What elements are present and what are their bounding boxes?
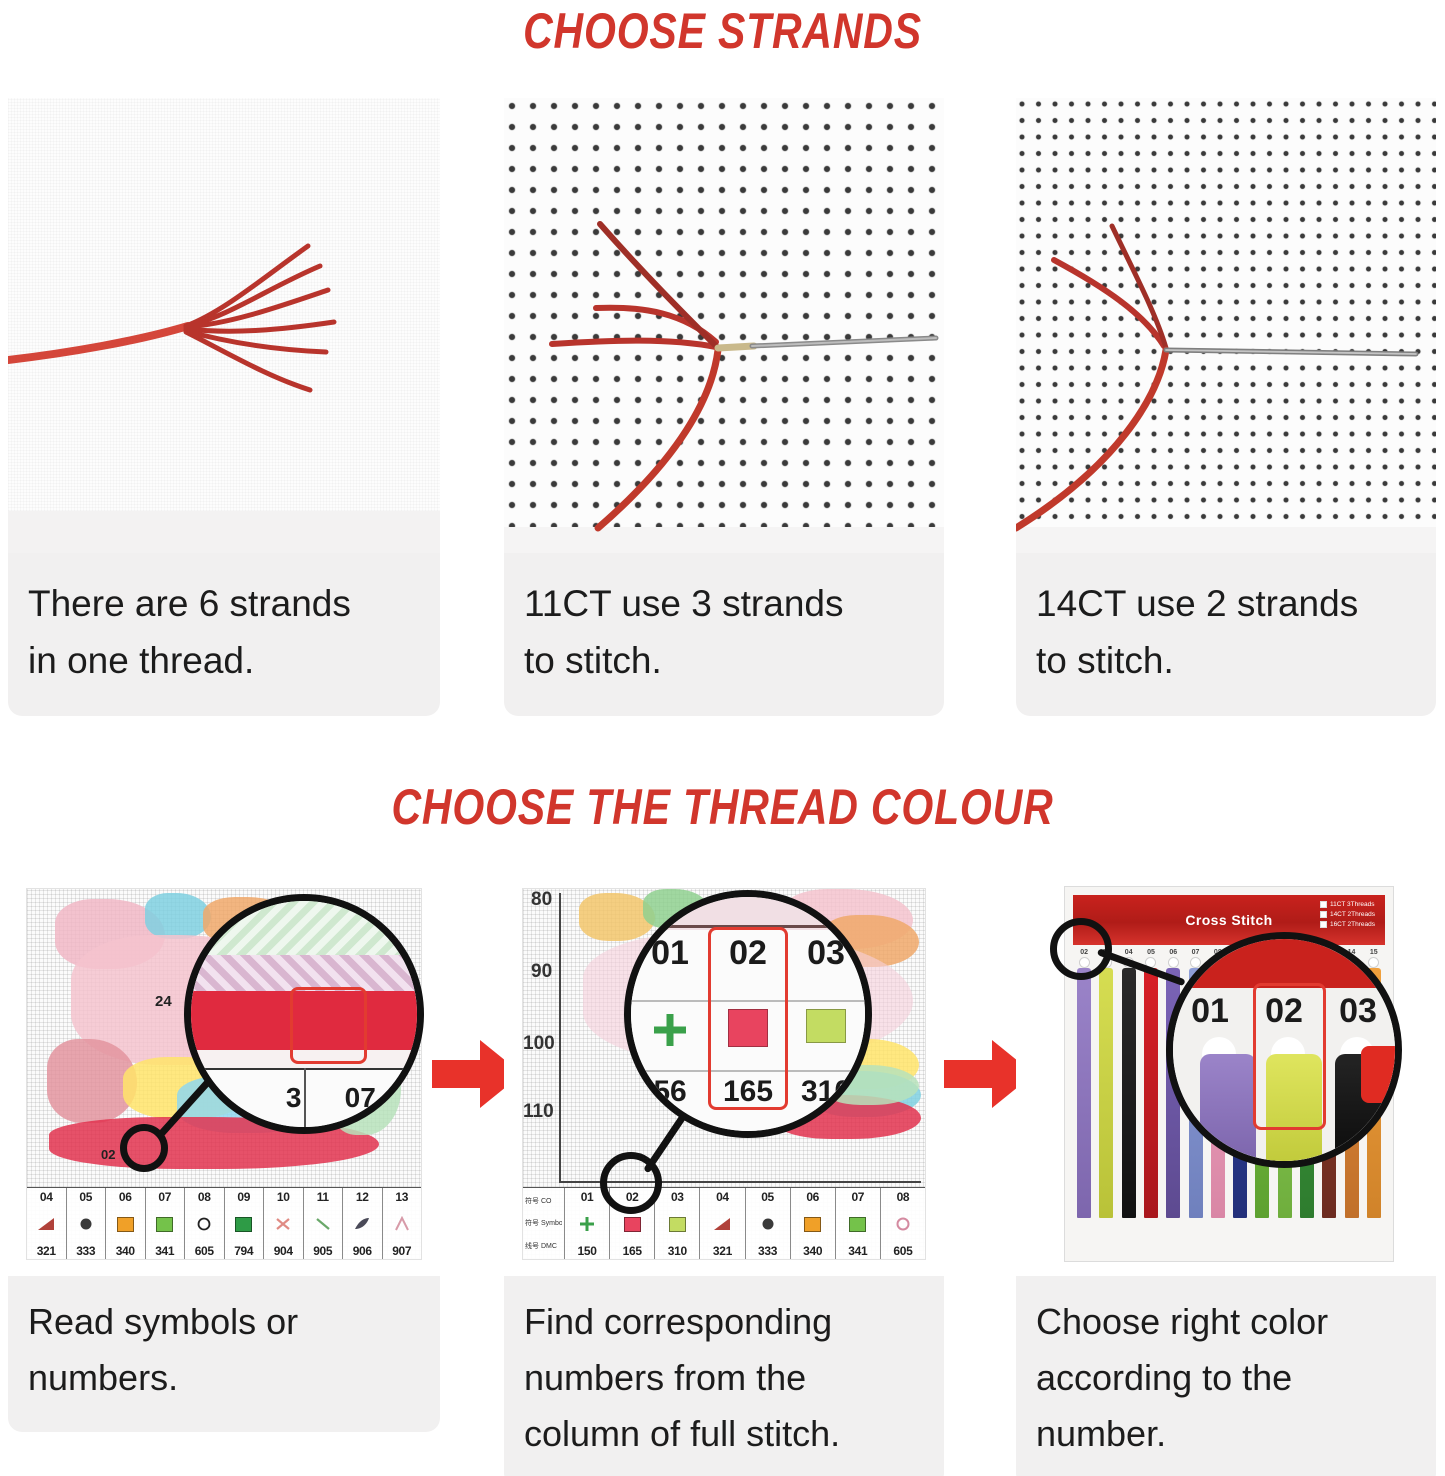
legend-symbol-triangle [37, 1212, 55, 1236]
checklist-label: 11CT 3Threads [1330, 901, 1375, 908]
y-tick-110: 110 [523, 1101, 554, 1123]
legend-dmc: 333 [76, 1244, 95, 1258]
photo-six-strands [8, 98, 440, 553]
checkbox-icon [1320, 921, 1327, 928]
legend-dmc: 907 [392, 1244, 411, 1258]
thread-peg: 02 [1073, 949, 1095, 1218]
magnifier-symbols: 3 07 [184, 894, 424, 1134]
magnifier-content-3: 01 02 03 [1173, 939, 1395, 1161]
needle-two-strands-illustration [1016, 98, 1436, 553]
photo-11ct [504, 98, 944, 553]
legend-number: 06 [119, 1190, 132, 1204]
caption-line: numbers. [28, 1350, 420, 1406]
legend-cell: 04 321 [700, 1188, 745, 1259]
legend-number: 13 [395, 1190, 408, 1204]
legend-symbol-cross [578, 1212, 596, 1236]
legend-symbol-circle [895, 1212, 911, 1236]
legend-cell: 13 907 [383, 1188, 422, 1259]
page-title-choose-thread-colour: CHOOSE THE THREAD COLOUR [130, 778, 1315, 836]
legend-dmc: 794 [234, 1244, 253, 1258]
legend-row-headers: 符号 CO 符号 Symbol 线号 DMC [523, 1188, 565, 1259]
checklist-item: 11CT 3Threads [1320, 901, 1375, 908]
magnifier-col: 03 [787, 934, 865, 973]
caption-line: according to the [1036, 1350, 1416, 1406]
legend-cell: 09 794 [225, 1188, 265, 1259]
magnifier-col: 01 [1173, 992, 1247, 1031]
legend-dmc: 341 [155, 1244, 174, 1258]
legend-dmc: 904 [274, 1244, 293, 1258]
legend-cell: 07 341 [146, 1188, 186, 1259]
legend-number: 08 [897, 1190, 910, 1204]
legend-cell: 07 341 [836, 1188, 881, 1259]
legend-symbol-triangle [713, 1212, 731, 1236]
legend-number: 03 [671, 1190, 684, 1204]
legend-cell: 03 310 [655, 1188, 700, 1259]
legend-number: 07 [851, 1190, 864, 1204]
legend-cell: 06 340 [791, 1188, 836, 1259]
legend-dmc: 333 [758, 1244, 777, 1258]
legend-row-header: 线号 DMC [525, 1241, 562, 1251]
legend-number: 10 [277, 1190, 290, 1204]
legend-symbol-leaf [353, 1212, 371, 1236]
thread-skein [1077, 968, 1091, 1218]
magnifier-label-left: 3 [286, 1082, 302, 1114]
thread-peg: 05 [1140, 949, 1162, 1218]
legend-strip-numbers: 符号 CO 符号 Symbol 线号 DMC 01 150 0 [523, 1187, 925, 1259]
legend-cell: 05 333 [746, 1188, 791, 1259]
panel-11ct: 11CT use 3 strands to stitch. [504, 98, 944, 738]
chart-y-axis [559, 893, 561, 1183]
legend-symbol-caret [394, 1212, 410, 1236]
thread-card-checklist: 11CT 3Threads 14CT 2Threads 16CT 2Thread… [1320, 901, 1375, 931]
legend-dmc: 321 [713, 1244, 732, 1258]
caption-11ct: 11CT use 3 strands to stitch. [504, 553, 944, 716]
legend-number: 05 [761, 1190, 774, 1204]
legend-dmc: 150 [578, 1244, 597, 1258]
legend-dmc: 906 [353, 1244, 372, 1258]
legend-symbol-square [235, 1212, 252, 1236]
legend-row-header: 符号 CO [525, 1196, 562, 1206]
legend-number: 04 [40, 1190, 53, 1204]
caption-line: column of full stitch. [524, 1406, 924, 1462]
legend-dmc: 340 [803, 1244, 822, 1258]
legend-symbol-slash [314, 1212, 332, 1236]
caption-line: to stitch. [1036, 632, 1416, 689]
page-title-choose-strands: CHOOSE STRANDS [130, 2, 1315, 60]
magnifier-col [631, 1009, 709, 1056]
caption-line: Choose right color [1036, 1294, 1416, 1350]
magnifier-skein-01 [1200, 1054, 1256, 1161]
legend-dmc: 165 [623, 1244, 642, 1258]
legend-symbol-cross [274, 1212, 292, 1236]
magnifier-numbers: 01 02 03 [624, 890, 872, 1138]
chart-cell-number-02: 02 [101, 1147, 115, 1162]
thread-peg: 04 [1118, 949, 1140, 1218]
legend-symbol-circle [196, 1212, 212, 1236]
magnifier-col: 03 [1321, 992, 1395, 1031]
caption-six-strands: There are 6 strands in one thread. [8, 553, 440, 716]
six-strands-illustration [8, 98, 440, 553]
legend-symbol-square [669, 1212, 686, 1236]
legend-symbol-square [117, 1212, 134, 1236]
checklist-item: 14CT 2Threads [1320, 911, 1375, 918]
magnifier-selection-box-2 [708, 927, 788, 1110]
thread-skein [1099, 968, 1113, 1218]
magnifier-col [787, 1009, 865, 1056]
thread-peg: 03 [1095, 949, 1117, 1218]
legend-cell: 06 340 [106, 1188, 146, 1259]
caption-line: 11CT use 3 strands [524, 575, 924, 632]
legend-symbol-square [804, 1212, 821, 1236]
caption-line: numbers from the [524, 1350, 924, 1406]
legend-dmc: 605 [195, 1244, 214, 1258]
panel-find-numbers: 80 90 100 110 [504, 876, 944, 1476]
legend-symbol-dot [78, 1212, 94, 1236]
magnifier-col: 310 [787, 1075, 865, 1109]
legend-number: 01 [581, 1190, 594, 1204]
strands-row: There are 6 strands in one thread. [0, 98, 1445, 738]
legend-cell: 12 906 [343, 1188, 383, 1259]
peg-number: 05 [1140, 949, 1162, 956]
legend-dmc: 310 [668, 1244, 687, 1258]
legend-dmc: 605 [893, 1244, 912, 1258]
magnifier-col: 56 [631, 1075, 709, 1109]
legend-cell: 11 905 [304, 1188, 344, 1259]
caption-line: There are 6 strands [28, 575, 420, 632]
chart-image-numbers: 80 90 100 110 [504, 876, 944, 1276]
magnifier-selection-box-3 [1253, 983, 1326, 1130]
caption-14ct: 14CT use 2 strands to stitch. [1016, 553, 1436, 716]
panel-read-symbols: 24 02 04 321 05 [8, 876, 440, 1476]
legend-symbol-square [156, 1212, 173, 1236]
magnifier-label-right: 07 [345, 1082, 376, 1114]
magnifier-content-2: 01 02 03 [631, 897, 865, 1131]
caption-choose-color: Choose right color according to the numb… [1016, 1276, 1436, 1476]
legend-cell: 08 605 [185, 1188, 225, 1259]
legend-cell: 08 605 [881, 1188, 925, 1259]
panel-choose-color: Cross Stitch 11CT 3Threads 14CT 2Threads [1016, 876, 1436, 1476]
checklist-item: 16CT 2Threads [1320, 921, 1375, 928]
caption-line: to stitch. [524, 632, 924, 689]
legend-dmc: 341 [848, 1244, 867, 1258]
caption-line: Find corresponding [524, 1294, 924, 1350]
photo-14ct [1016, 98, 1436, 553]
panel-six-strands: There are 6 strands in one thread. [8, 98, 440, 738]
legend-number: 12 [356, 1190, 369, 1204]
panel-14ct: 14CT use 2 strands to stitch. [1016, 98, 1436, 738]
legend-number: 11 [317, 1190, 329, 1204]
needle-three-strands-illustration [504, 98, 944, 553]
thread-card-header: Cross Stitch 11CT 3Threads 14CT 2Threads [1073, 895, 1385, 945]
checklist-label: 14CT 2Threads [1330, 911, 1375, 918]
legend-strip-symbols: 04 321 05 333 [27, 1187, 421, 1259]
legend-number: 05 [79, 1190, 92, 1204]
checkbox-icon [1320, 911, 1327, 918]
legend-cell: 05 333 [67, 1188, 107, 1259]
legend-number: 06 [806, 1190, 819, 1204]
legend-number: 09 [237, 1190, 250, 1204]
thread-colour-row: 24 02 04 321 05 [0, 876, 1445, 1476]
peg-number: 04 [1118, 949, 1140, 956]
checkbox-icon [1320, 901, 1327, 908]
legend-row-header: 符号 Symbol [525, 1218, 562, 1228]
legend-dmc: 905 [313, 1244, 332, 1258]
thread-skein [1144, 968, 1158, 1218]
thread-card-image: Cross Stitch 11CT 3Threads 14CT 2Threads [1016, 876, 1436, 1276]
caption-read-symbols: Read symbols or numbers. [8, 1276, 440, 1432]
y-tick-100: 100 [523, 1033, 555, 1055]
legend-cell: 04 321 [27, 1188, 67, 1259]
magnifier-content: 3 07 [191, 901, 417, 1127]
legend-symbol-square [624, 1212, 641, 1236]
magnifier-col: 01 [631, 934, 709, 973]
legend-dmc: 340 [116, 1244, 135, 1258]
thread-card-title: Cross Stitch [1185, 912, 1272, 928]
caption-line: in one thread. [28, 632, 420, 689]
legend-symbol-dot [760, 1212, 776, 1236]
y-tick-90: 90 [531, 961, 552, 983]
legend-dmc: 321 [37, 1244, 56, 1258]
caption-line: 14CT use 2 strands [1036, 575, 1416, 632]
legend-number: 04 [716, 1190, 729, 1204]
magnifier-skein-edge [1361, 1046, 1395, 1104]
legend-symbol-square [849, 1212, 866, 1236]
caption-line: number. [1036, 1406, 1416, 1462]
legend-number: 08 [198, 1190, 211, 1204]
checklist-label: 16CT 2Threads [1330, 921, 1375, 928]
infographic-page: CHOOSE STRANDS [0, 0, 1445, 1476]
caption-line: Read symbols or [28, 1294, 420, 1350]
caption-find-numbers: Find corresponding numbers from the colu… [504, 1276, 944, 1476]
legend-number: 07 [158, 1190, 171, 1204]
legend-cell: 10 904 [264, 1188, 304, 1259]
chart-image-symbols: 24 02 04 321 05 [8, 876, 440, 1276]
magnifier-selection-box [290, 987, 367, 1064]
magnifier-threads: 01 02 03 [1166, 932, 1402, 1168]
thread-skein [1122, 968, 1136, 1218]
chart-cell-number-24: 24 [155, 993, 172, 1010]
y-tick-80: 80 [531, 889, 552, 911]
